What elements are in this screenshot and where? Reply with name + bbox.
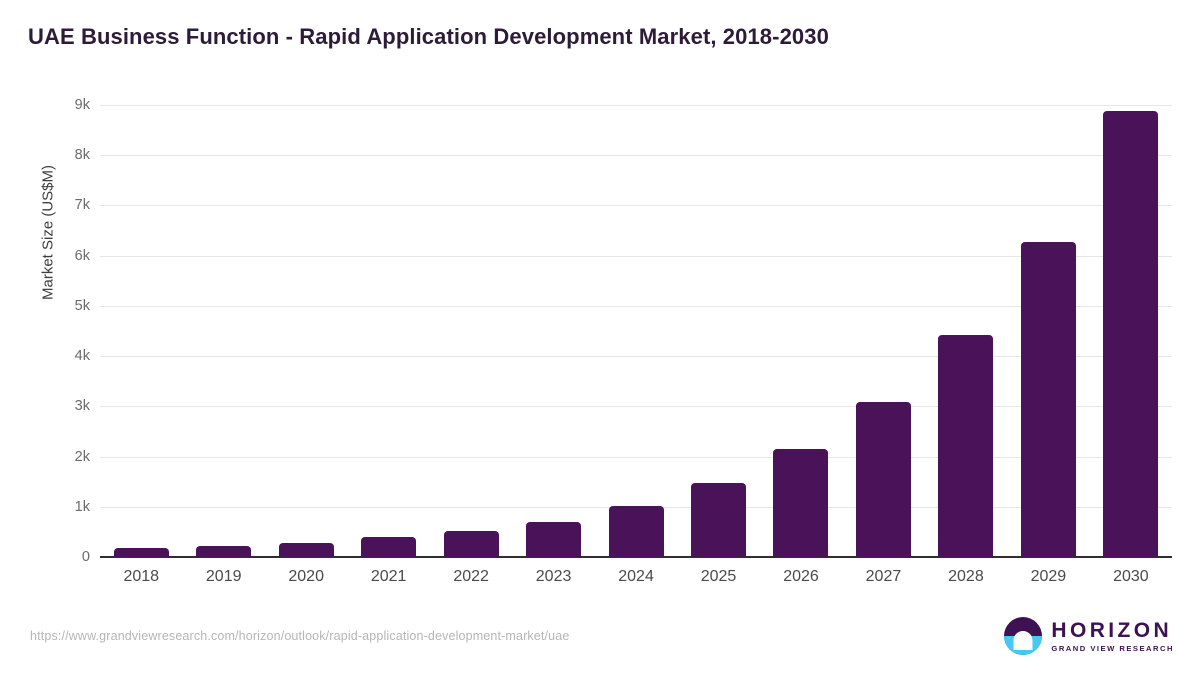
x-axis-tick-label: 2024	[595, 568, 677, 586]
logo-text-group: HORIZON GRAND VIEW RESEARCH	[1051, 620, 1174, 653]
x-axis-tick-label: 2027	[842, 568, 924, 586]
x-axis-tick-label: 2018	[100, 568, 182, 586]
x-axis-tick-label: 2022	[430, 568, 512, 586]
y-axis-tick-label: 0	[30, 549, 90, 565]
x-axis-ticks: 2018201920202021202220232024202520262027…	[100, 568, 1172, 586]
x-axis-tick-label: 2030	[1090, 568, 1172, 586]
bar-2020[interactable]	[279, 543, 334, 557]
x-axis-tick-label: 2029	[1007, 568, 1089, 586]
bar-2030[interactable]	[1103, 111, 1158, 557]
source-url[interactable]: https://www.grandviewresearch.com/horizo…	[30, 629, 569, 643]
x-axis-tick-label: 2025	[677, 568, 759, 586]
y-axis-tick-label: 7k	[30, 197, 90, 213]
horizon-sunset-circle-icon	[1004, 617, 1042, 655]
bar-2029[interactable]	[1021, 242, 1076, 557]
bar-2022[interactable]	[444, 531, 499, 557]
x-axis-tick-label: 2023	[512, 568, 594, 586]
bar-2018[interactable]	[114, 548, 169, 557]
bar-2026[interactable]	[773, 449, 828, 557]
bar-slot	[925, 105, 1007, 557]
logo-wordmark: HORIZON	[1051, 620, 1174, 641]
y-axis-tick-label: 6k	[30, 248, 90, 264]
y-axis-tick-label: 2k	[30, 449, 90, 465]
y-axis-tick-label: 5k	[30, 298, 90, 314]
horizon-logo: HORIZON GRAND VIEW RESEARCH	[1004, 616, 1174, 656]
y-axis-tick-label: 9k	[30, 97, 90, 113]
bar-2024[interactable]	[609, 506, 664, 557]
y-axis-tick-label: 8k	[30, 147, 90, 163]
x-axis-tick-label: 2019	[182, 568, 264, 586]
chart-plot-area: Market Size (US$M) 01k2k3k4k5k6k7k8k9k 2…	[0, 0, 1200, 675]
bar-slot	[182, 105, 264, 557]
bar-slot	[512, 105, 594, 557]
bar-2025[interactable]	[691, 483, 746, 557]
x-axis-tick-label: 2020	[265, 568, 347, 586]
bar-slot	[100, 105, 182, 557]
x-axis-tick-label: 2026	[760, 568, 842, 586]
bar-series	[100, 105, 1172, 557]
bar-2028[interactable]	[938, 335, 993, 557]
logo-ray-upper	[1015, 641, 1031, 644]
logo-subtitle: GRAND VIEW RESEARCH	[1051, 645, 1174, 653]
bar-slot	[760, 105, 842, 557]
bar-slot	[677, 105, 759, 557]
bar-slot	[1090, 105, 1172, 557]
x-axis-tick-label: 2021	[347, 568, 429, 586]
chart-screenshot: UAE Business Function - Rapid Applicatio…	[0, 0, 1200, 675]
y-axis-tick-label: 1k	[30, 499, 90, 515]
bar-slot	[595, 105, 677, 557]
bar-slot	[1007, 105, 1089, 557]
bar-slot	[347, 105, 429, 557]
logo-ray-lower	[1018, 645, 1028, 648]
bar-slot	[842, 105, 924, 557]
bar-2023[interactable]	[526, 522, 581, 557]
bar-slot	[265, 105, 347, 557]
bar-2021[interactable]	[361, 537, 416, 557]
x-axis-tick-label: 2028	[925, 568, 1007, 586]
y-axis-tick-label: 4k	[30, 348, 90, 364]
y-axis-tick-label: 3k	[30, 398, 90, 414]
bar-2019[interactable]	[196, 546, 251, 557]
y-axis-ticks: 01k2k3k4k5k6k7k8k9k	[20, 0, 90, 675]
bar-slot	[430, 105, 512, 557]
bar-2027[interactable]	[856, 402, 911, 557]
